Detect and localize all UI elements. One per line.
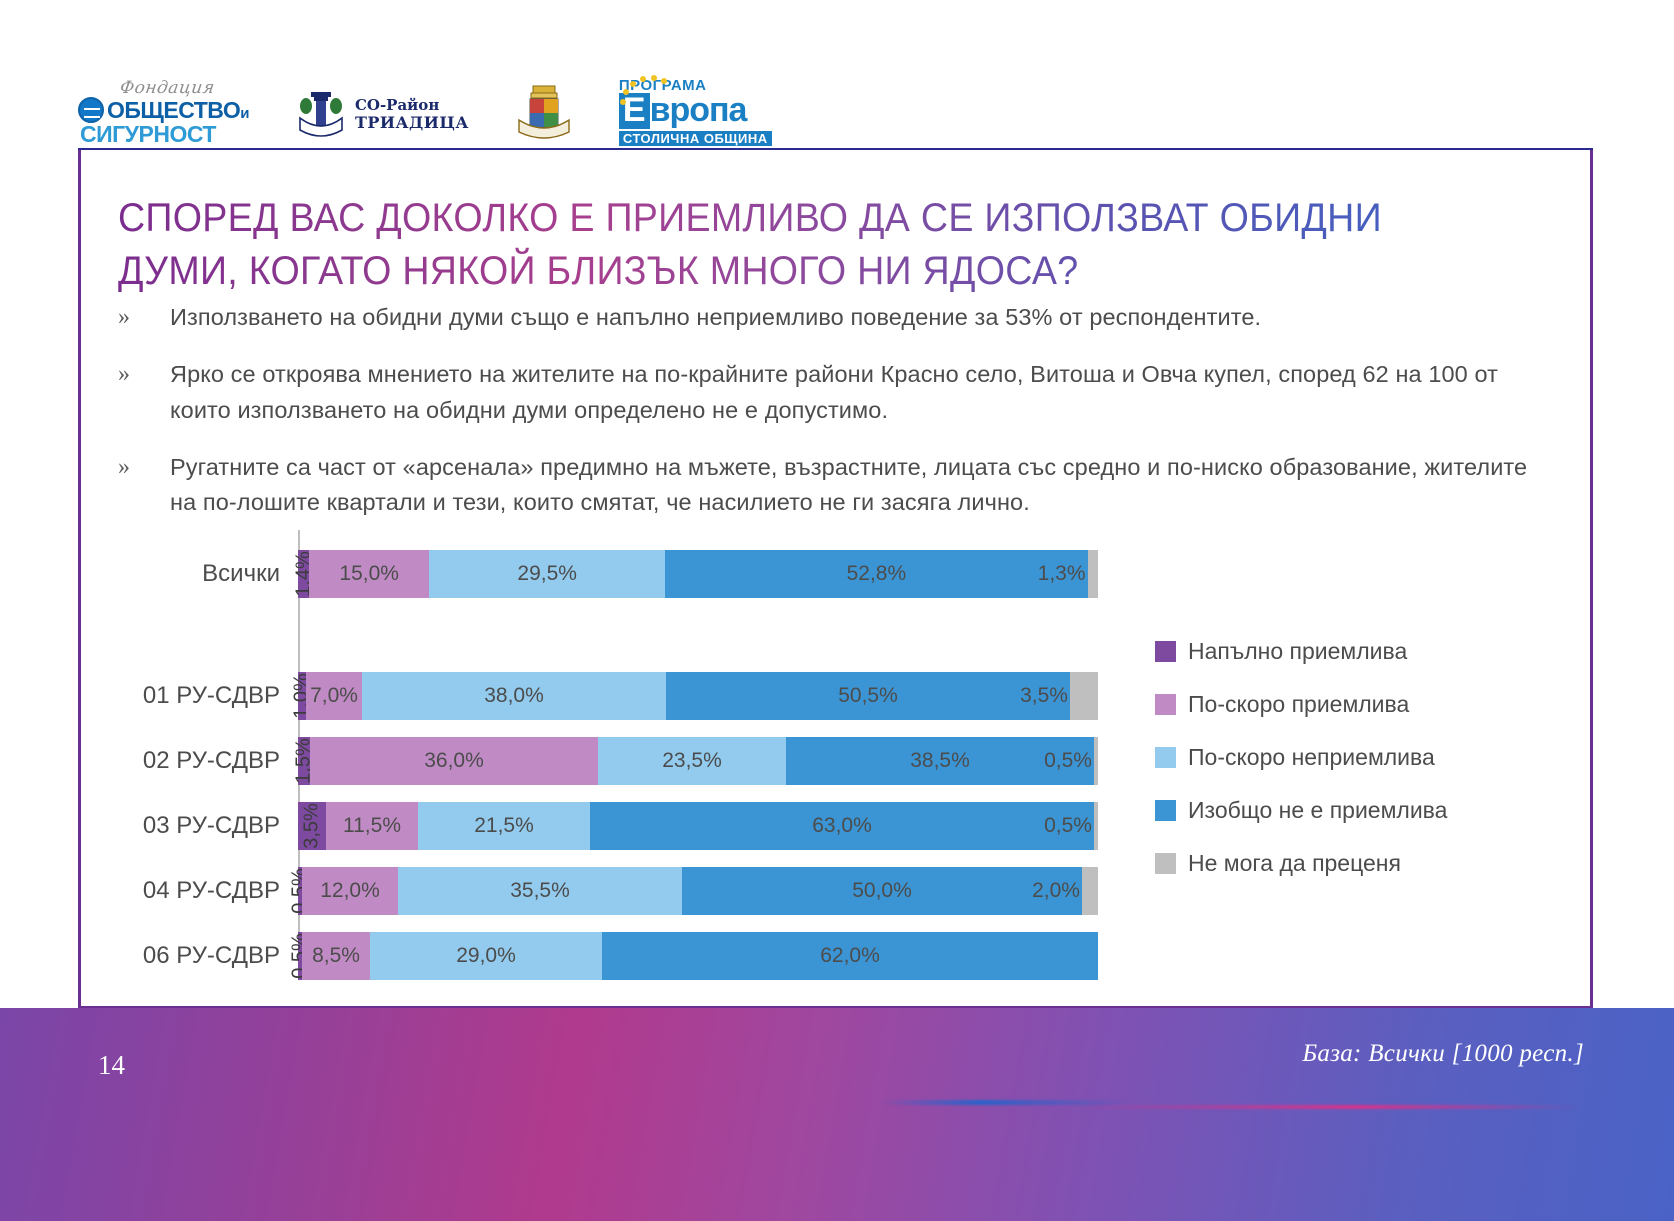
chart-category-label: 02 РУ-СДВР [118,747,298,775]
chart-segment-label: 1,3% [1038,562,1086,586]
chart-category-label: 01 РУ-СДВР [118,682,298,710]
legend-swatch-icon [1155,747,1176,768]
chart-segment-label: 0,5% [1044,749,1092,773]
chart-segment-label: 38,5% [910,749,970,773]
legend-label: По-скоро неприемлива [1188,744,1435,771]
bullet-text: Използването на обидни думи също е напъл… [170,300,1558,335]
legend-item[interactable]: Изобщо не е приемлива [1155,797,1575,824]
chart-segment: 3,5% [298,802,326,850]
chart-row: 03 РУ-СДВР3,5%11,5%21,5%63,0%0,5% [118,802,1098,850]
frame-border-right [1590,150,1593,1008]
chart-row: 01 РУ-СДВР1,0%7,0%38,0%50,5%3,5% [118,672,1098,720]
bullet-marker-icon: » [118,300,170,335]
logo-so-rayon-triaditsa: СО-Район ТРИАДИЦА [295,84,469,146]
chart-segment-label: 11,5% [343,814,401,838]
chart-segment: 62,0% [602,932,1098,980]
logo-line-so-rayon: СО-Район [355,97,469,114]
legend-swatch-icon [1155,853,1176,874]
chart-segment: 8,5% [302,932,370,980]
chart-row: 02 РУ-СДВР1,5%36,0%23,5%38,5%0,5% [118,737,1098,785]
chart-segment-label: 3,5% [1020,684,1068,708]
list-item: » Използването на обидни думи също е нап… [118,300,1558,335]
bullet-text: Ругатните са част от «арсенала» предимно… [170,450,1558,521]
base-note: База: Всички [1000 респ.] [1302,1040,1584,1068]
chart-segment: 0,5% [1094,737,1098,785]
chart-segment: 11,5% [326,802,418,850]
chart-segment: 29,5% [429,550,665,598]
chart-segment: 29,0% [370,932,602,980]
list-item: » Ярко се откроява мнението на жителите … [118,357,1558,428]
legend-swatch-icon [1155,800,1176,821]
bullet-text: Ярко се откроява мнението на жителите на… [170,357,1558,428]
legend-label: Изобщо не е приемлива [1188,797,1447,824]
chart-segment-label: 15,0% [339,562,399,586]
list-item: » Ругатните са част от «арсенала» предим… [118,450,1558,521]
legend-swatch-icon [1155,641,1176,662]
triaditsa-crest-icon [295,84,347,146]
chart-segment-label: 12,0% [320,879,380,903]
logo-fondacia-obshtestvo-i-sigurnost: Фондация ОБЩЕСТВОи СИГУРНОСТ [78,80,249,146]
chart-segment-label: 35,5% [510,879,570,903]
stacked-bar-chart: Всички1,4%15,0%29,5%52,8%1,3%01 РУ-СДВР1… [118,530,1118,980]
chart-segment-label: 23,5% [662,749,722,773]
chart-segment: 50,5% [666,672,1070,720]
chart-bar: 1,0%7,0%38,0%50,5%3,5% [298,672,1098,720]
page-number: 14 [98,1050,125,1081]
chart-segment-label: 38,0% [484,684,544,708]
bullet-marker-icon: » [118,450,170,521]
chart-segment: 35,5% [398,867,682,915]
sofia-crest-icon [515,80,573,146]
chart-segment-label: 2,0% [1032,879,1080,903]
bullet-list: » Използването на обидни думи също е нап… [118,300,1558,542]
chart-legend: Напълно приемливаПо-скоро приемливаПо-ск… [1155,638,1575,903]
logo-programa-evropa: ПРОГРАМА Е вропа СТОЛИЧНА ОБЩИНА [619,78,772,146]
chart-bar: 0,5%8,5%29,0%62,0% [298,932,1098,980]
chart-row: 04 РУ-СДВР0,5%12,0%35,5%50,0%2,0% [118,867,1098,915]
chart-segment-label: 29,5% [517,562,577,586]
slide: Фондация ОБЩЕСТВОи СИГУРНОСТ СО-Район ТР… [0,0,1674,1221]
eu-stars-icon [615,72,675,126]
logo-word-obshtestvo: ОБЩЕСТВОи [107,99,249,122]
chart-segment: 1,4% [298,550,309,598]
chart-segment: 1,5% [298,737,310,785]
chart-row: 06 РУ-СДВР0,5%8,5%29,0%62,0% [118,932,1098,980]
chart-segment: 38,0% [362,672,666,720]
chart-segment: 50,0% [682,867,1082,915]
chart-bar: 1,4%15,0%29,5%52,8%1,3% [298,550,1098,598]
chart-segment: 7,0% [306,672,362,720]
chart-segment-label: 36,0% [424,749,484,773]
chart-segment-label: 50,5% [838,684,898,708]
chart-category-label: 06 РУ-СДВР [118,942,298,970]
legend-label: Напълно приемлива [1188,638,1407,665]
chart-segment-label: 62,0% [820,944,880,968]
chart-segment-label: 3,5% [301,803,324,849]
chart-segment: 21,5% [418,802,590,850]
chart-bar: 0,5%12,0%35,5%50,0%2,0% [298,867,1098,915]
chart-bar: 1,5%36,0%23,5%38,5%0,5% [298,737,1098,785]
chart-segment: 23,5% [598,737,786,785]
logo-word-sigurnost: СИГУРНОСТ [80,123,216,146]
page-title: СПОРЕД ВАС ДОКОЛКО Е ПРИЕМЛИВО ДА СЕ ИЗП… [118,192,1472,298]
chart-segment: 3,5% [1070,672,1098,720]
legend-label: По-скоро приемлива [1188,691,1409,718]
footer-bar: 14 База: Всички [1000 респ.] [0,1008,1674,1221]
chart-segment-label: 21,5% [474,814,534,838]
chart-segment: 63,0% [590,802,1094,850]
logo-bar: Фондация ОБЩЕСТВОи СИГУРНОСТ СО-Район ТР… [78,72,1593,150]
chart-category-label: Всички [118,560,298,588]
chart-segment-label: 7,0% [310,684,358,708]
legend-swatch-icon [1155,694,1176,715]
legend-item[interactable]: По-скоро приемлива [1155,691,1575,718]
chart-segment-label: 29,0% [456,944,516,968]
chart-segment-label: 0,5% [1044,814,1092,838]
logo-word-stolichna-obshtina: СТОЛИЧНА ОБЩИНА [619,131,772,146]
chart-segment: 15,0% [309,550,429,598]
legend-item[interactable]: Напълно приемлива [1155,638,1575,665]
chart-category-label: 04 РУ-СДВР [118,877,298,905]
logo-sofia-coat-of-arms [515,80,573,146]
chart-bar: 3,5%11,5%21,5%63,0%0,5% [298,802,1098,850]
chart-segment: 36,0% [310,737,598,785]
chart-segment: 1,0% [298,672,306,720]
chart-segment: 52,8% [665,550,1087,598]
chart-segment-label: 50,0% [852,879,912,903]
chart-category-label: 03 РУ-СДВР [118,812,298,840]
logo-line-triaditsa: ТРИАДИЦА [355,114,469,132]
legend-item[interactable]: По-скоро неприемлива [1155,744,1575,771]
chart-segment-label: 8,5% [312,944,360,968]
chart-segment: 0,5% [1094,802,1098,850]
bullet-marker-icon: » [118,357,170,428]
legend-item[interactable]: Не мога да преценя [1155,850,1575,877]
chart-segment: 12,0% [302,867,398,915]
chart-row: Всички1,4%15,0%29,5%52,8%1,3% [118,550,1098,598]
legend-label: Не мога да преценя [1188,850,1401,877]
logo-script-text: Фондация [119,80,216,97]
chart-segment-label: 52,8% [847,562,907,586]
chart-segment: 1,3% [1088,550,1098,598]
globe-icon [78,97,104,123]
footer-streak-pink [1080,1105,1580,1109]
chart-segment-label: 63,0% [812,814,872,838]
chart-segment: 2,0% [1082,867,1098,915]
frame-border-left [78,150,81,1008]
